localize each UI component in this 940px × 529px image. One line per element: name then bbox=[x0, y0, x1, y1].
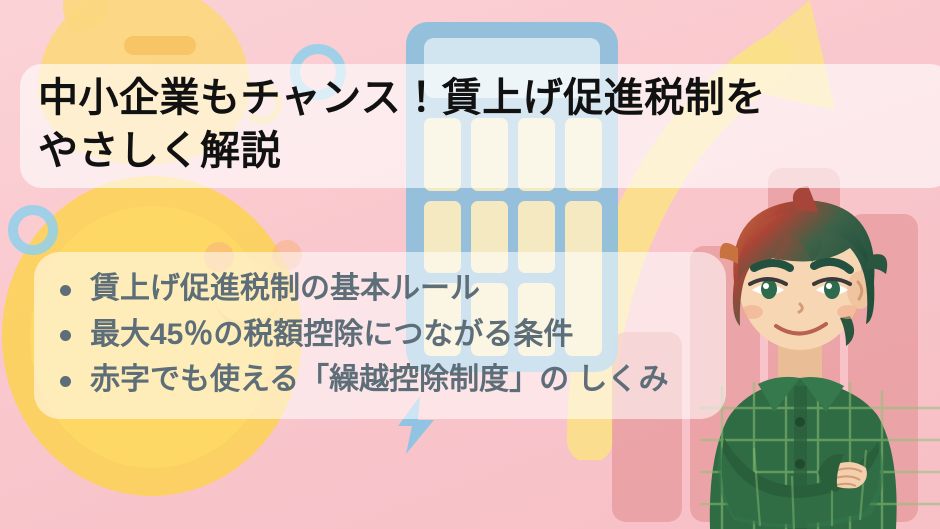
bullet-dot-icon bbox=[60, 376, 71, 387]
list-item-label: 最大45％の税額控除につながる条件 bbox=[90, 318, 573, 351]
bullet-dot-icon bbox=[60, 330, 71, 341]
bullet-dot-icon bbox=[60, 285, 71, 296]
blue-ring-icon bbox=[8, 205, 58, 255]
piggy-coin-slot bbox=[124, 36, 196, 55]
bullet-banner: 賃上げ促進税制の基本ルール 最大45％の税額控除につながる条件 赤字でも使える「… bbox=[34, 252, 726, 419]
list-item: 赤字でも使える「繰越控除制度」の しくみ bbox=[56, 357, 704, 403]
list-item: 最大45％の税額控除につながる条件 bbox=[56, 312, 704, 358]
list-item: 賃上げ促進税制の基本ルール bbox=[56, 266, 704, 312]
page-title-line-2: やさしく解説 bbox=[38, 125, 338, 178]
bullet-list: 賃上げ促進税制の基本ルール 最大45％の税額控除につながる条件 赤字でも使える「… bbox=[56, 266, 704, 403]
anime-boy-character bbox=[700, 186, 940, 529]
page-title-line-1: 中小企業もチャンス！賃上げ促進税制を bbox=[38, 72, 934, 125]
list-item-label: 赤字でも使える「繰越控除制度」の しくみ bbox=[90, 363, 669, 396]
title-banner: 中小企業もチャンス！賃上げ促進税制を やさしく解説 bbox=[20, 64, 940, 188]
thumbnail-canvas: 中小企業もチャンス！賃上げ促進税制を やさしく解説 賃上げ促進税制の基本ルール … bbox=[0, 0, 940, 529]
list-item-label: 賃上げ促進税制の基本ルール bbox=[90, 272, 480, 305]
